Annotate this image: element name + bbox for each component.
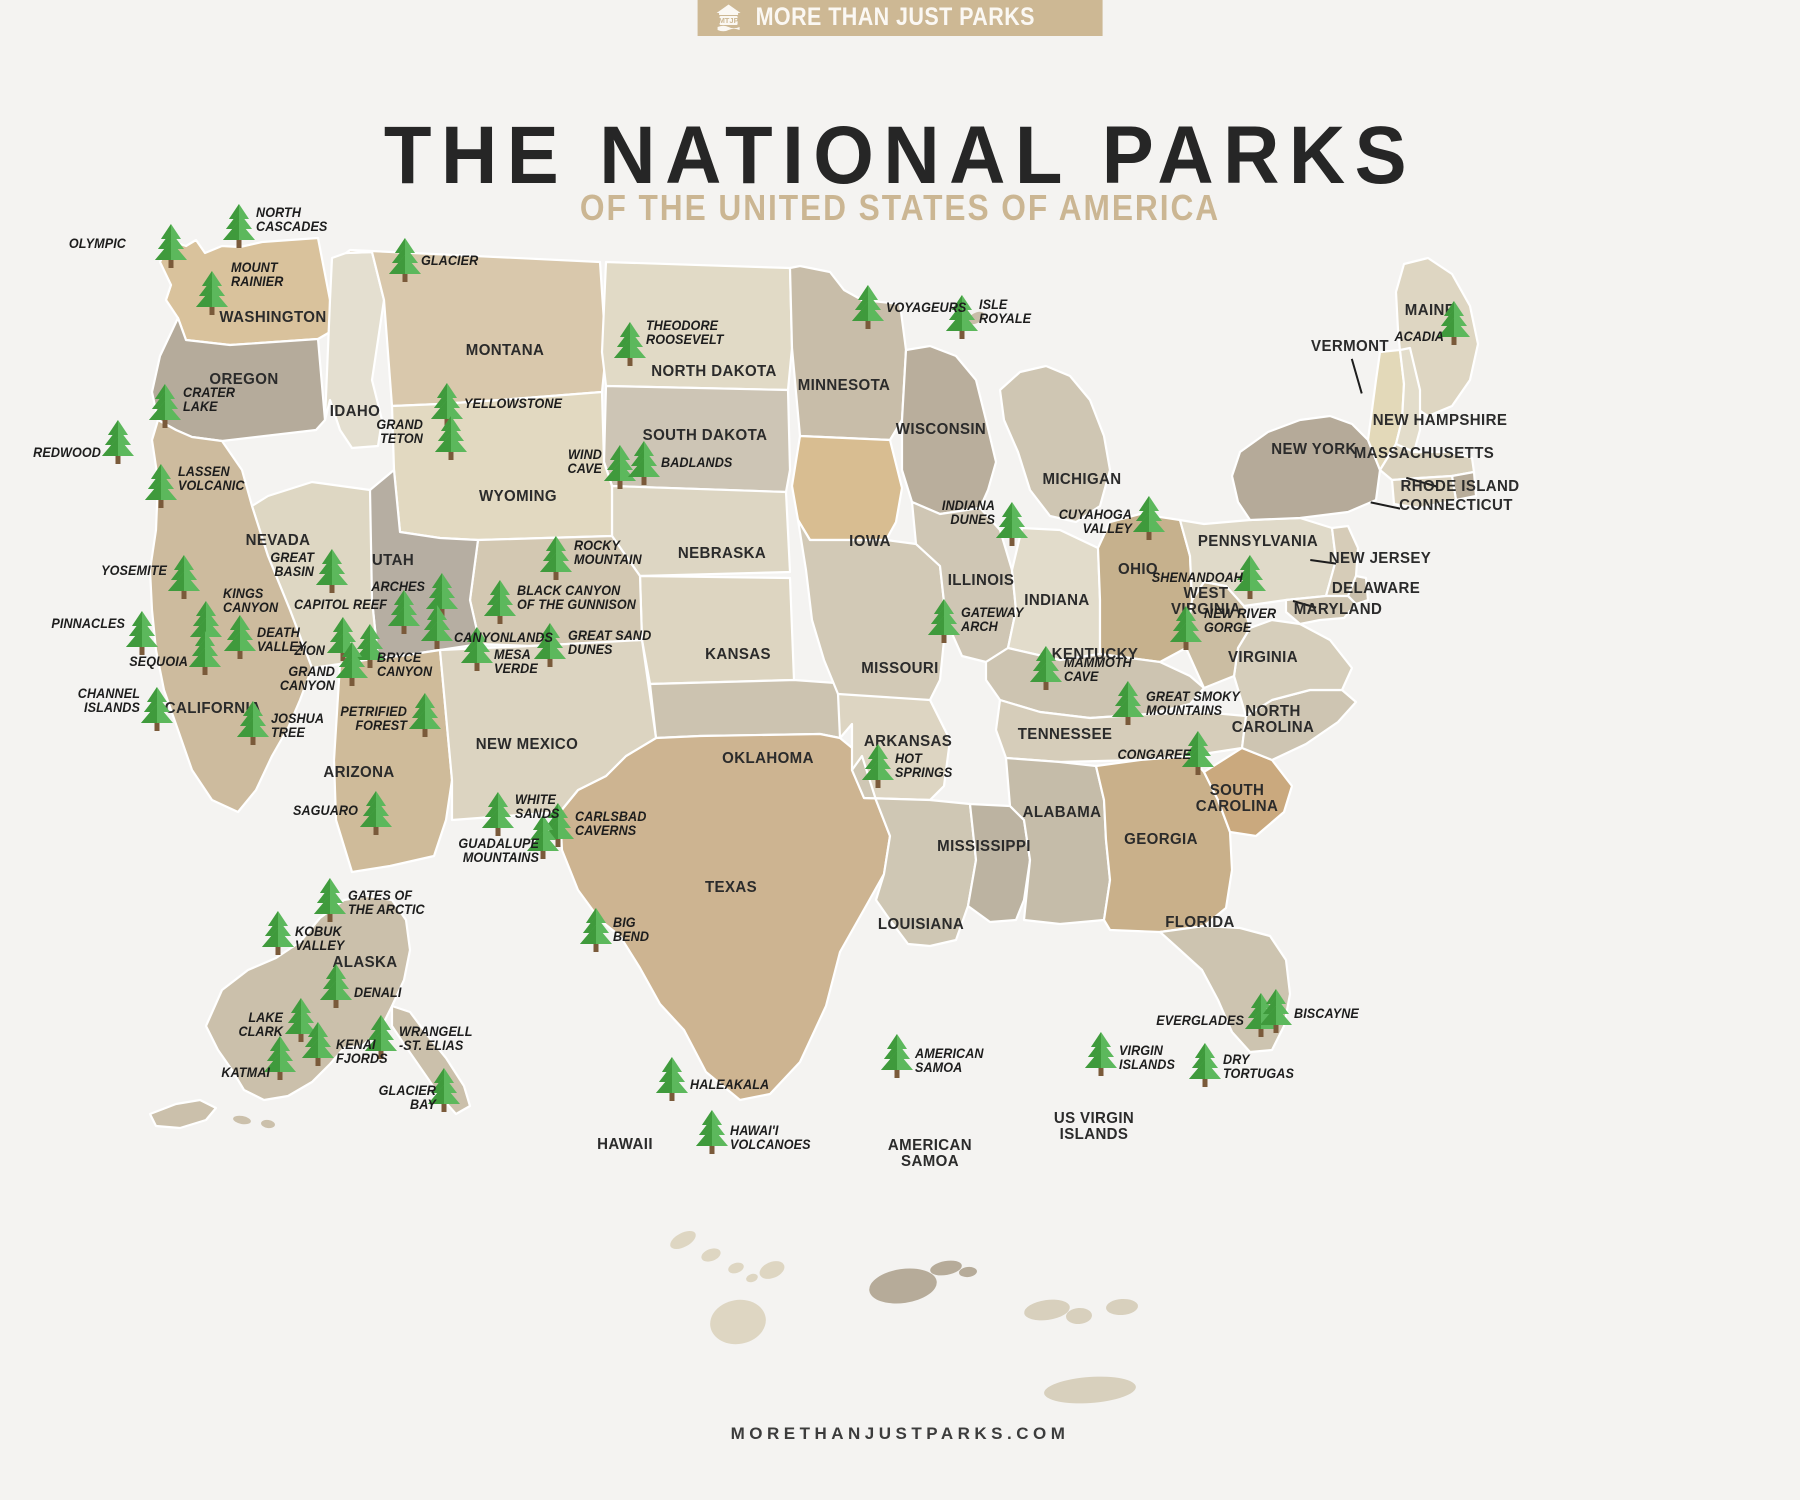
state-shape-nebraska[interactable] <box>612 486 790 576</box>
state-shape-alaska-se[interactable] <box>392 1006 470 1114</box>
island-molokai[interactable] <box>727 1261 745 1275</box>
state-shape-montana[interactable] <box>346 250 606 406</box>
states-layer <box>150 238 1478 1406</box>
island-aleutian-2[interactable] <box>261 1119 276 1129</box>
island-aleutian-1[interactable] <box>232 1114 251 1125</box>
island-manua-1[interactable] <box>929 1258 963 1277</box>
state-shape-ohio[interactable] <box>1098 514 1192 662</box>
state-shape-kansas[interactable] <box>640 576 794 684</box>
island-maui[interactable] <box>757 1258 787 1283</box>
state-shape-north-dakota[interactable] <box>602 262 792 390</box>
island-hawaii-big-island[interactable] <box>707 1295 770 1348</box>
island-st-john[interactable] <box>1065 1307 1092 1325</box>
state-shape-iowa[interactable] <box>792 436 902 540</box>
state-shape-new-york[interactable] <box>1232 416 1380 520</box>
island-oahu[interactable] <box>700 1246 723 1264</box>
state-shape-michigan[interactable] <box>1000 366 1110 522</box>
brand-banner[interactable]: MTJP MORE THAN JUST PARKS <box>698 0 1103 36</box>
state-shape-washington[interactable] <box>160 238 330 345</box>
island-kauai[interactable] <box>667 1227 698 1253</box>
island-st-thomas[interactable] <box>1023 1297 1071 1323</box>
state-shape-oklahoma[interactable] <box>650 680 852 738</box>
island-virgin-islands-np[interactable] <box>1105 1298 1138 1316</box>
state-shape-indiana[interactable] <box>1008 528 1100 660</box>
state-shape-minnesota[interactable] <box>790 266 906 440</box>
state-shape-maryland[interactable] <box>1286 596 1356 624</box>
state-shape-alaska-aleu[interactable] <box>150 1100 216 1128</box>
state-shape-south-dakota[interactable] <box>604 386 790 492</box>
brand-banner-label: MORE THAN JUST PARKS <box>756 5 1035 30</box>
state-shape-california[interactable] <box>150 420 312 812</box>
cabin-icon: MTJP <box>714 2 744 32</box>
island-lanai[interactable] <box>745 1272 759 1283</box>
page-title: THE NATIONAL PARKS <box>45 115 1755 197</box>
island-st-croix[interactable] <box>1043 1374 1137 1406</box>
state-shape-connecticut[interactable] <box>1392 476 1456 508</box>
island-tutuila[interactable] <box>867 1264 939 1307</box>
state-shape-alaska[interactable] <box>206 896 410 1100</box>
state-shape-colorado[interactable] <box>470 536 642 646</box>
state-shape-idaho[interactable] <box>325 252 384 448</box>
state-shape-florida[interactable] <box>1160 926 1290 1052</box>
island-isle-royale-island[interactable] <box>966 309 987 327</box>
state-shape-wyoming[interactable] <box>392 392 612 540</box>
state-shape-mississippi[interactable] <box>968 804 1030 922</box>
state-shape-texas[interactable] <box>560 734 890 1100</box>
footer-website: MORETHANJUSTPARKS.COM <box>0 1424 1800 1444</box>
island-manua-2[interactable] <box>959 1266 978 1278</box>
page-subtitle: OF THE UNITED STATES OF AMERICA <box>108 190 1692 226</box>
state-shape-arizona[interactable] <box>334 650 452 872</box>
svg-text:MTJP: MTJP <box>719 16 739 25</box>
state-shape-wisconsin[interactable] <box>902 346 996 514</box>
